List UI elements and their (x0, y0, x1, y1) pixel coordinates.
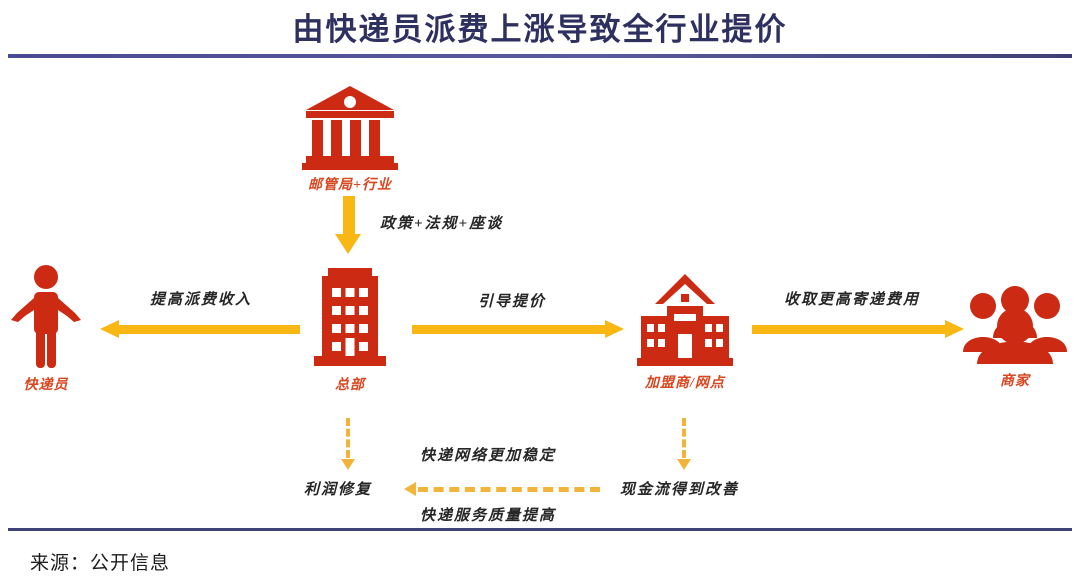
dashed-arrow-hq-profit (340, 418, 356, 470)
node-franchise: 加盟商/网点 (630, 272, 740, 392)
arrow-hq-to-courier (100, 320, 300, 338)
arrow-franchise-to-merchant (752, 320, 964, 338)
person-icon (9, 264, 83, 370)
node-regulator-label: 邮管局+行业 (280, 174, 420, 194)
edge-label-guide-price-increase: 引导提价 (478, 290, 546, 311)
node-regulator: 邮管局+行业 (280, 84, 420, 194)
people-group-icon-wrap (960, 282, 1070, 366)
office-building-icon-wrap (300, 262, 400, 370)
source-note: 来源：公开信息 (30, 548, 170, 575)
edge-label-raise-delivery-income: 提高派费收入 (150, 288, 252, 309)
arrow-regulator-to-hq (335, 196, 361, 254)
bank-building-icon-wrap (280, 84, 420, 170)
edge-label-policy: 政策+法规+座谈 (380, 212, 503, 233)
node-courier: 快递员 (0, 264, 92, 394)
title-divider (8, 54, 1072, 58)
node-headquarters: 总部 (300, 262, 400, 394)
edge-label-network-stability: 快递网络更加稳定 (420, 444, 556, 465)
dashed-arrow-franchise-cashflow (676, 418, 692, 470)
node-franchise-label: 加盟商/网点 (630, 372, 740, 392)
page-title: 由快递员派费上涨导致全行业提价 (0, 4, 1080, 49)
node-courier-label: 快递员 (0, 374, 92, 394)
slide-root: 由快递员派费上涨导致全行业提价 邮管局+行业 政策+法规+座谈 (0, 0, 1080, 586)
edge-label-cashflow-improved: 现金流得到改善 (620, 478, 739, 499)
person-icon-wrap (0, 264, 92, 370)
node-merchant-label: 商家 (960, 370, 1070, 390)
footer-divider (8, 528, 1072, 531)
people-group-icon (963, 286, 1067, 366)
office-building-icon (308, 262, 392, 370)
node-merchant: 商家 (960, 282, 1070, 390)
node-headquarters-label: 总部 (300, 374, 400, 394)
arrow-hq-to-franchise (412, 320, 624, 338)
edge-label-service-quality: 快递服务质量提高 (420, 504, 556, 525)
edge-label-higher-shipping-fee: 收取更高寄递费用 (784, 288, 920, 309)
branch-building-icon (637, 272, 733, 368)
branch-building-icon-wrap (630, 272, 740, 368)
dashed-arrow-feedback-loop (404, 482, 600, 496)
bank-building-icon (302, 84, 398, 170)
edge-label-profit-repair: 利润修复 (304, 478, 372, 499)
